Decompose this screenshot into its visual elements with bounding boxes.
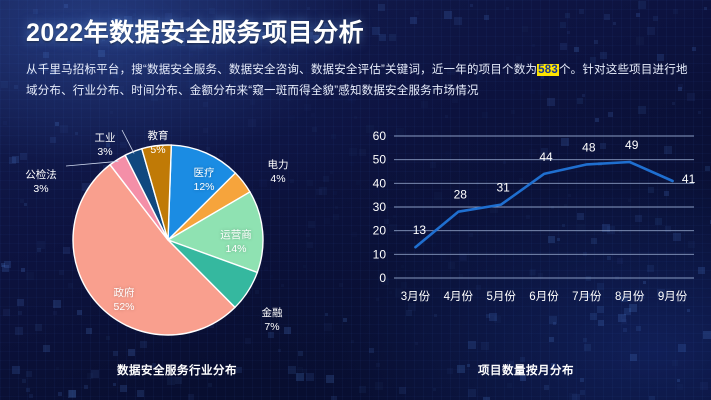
x-tick-label-7月份: 7月份	[572, 290, 602, 303]
y-tick-label-20: 20	[373, 224, 387, 238]
y-tick-label-30: 30	[373, 200, 387, 214]
x-tick-label-6月份: 6月份	[529, 290, 559, 303]
line-series-group	[415, 162, 672, 247]
data-label-6月份: 44	[539, 150, 553, 164]
pie-svg	[8, 118, 346, 358]
line-x-tick-labels-group: 3月份4月份5月份6月份7月份8月份9月份	[401, 290, 688, 303]
line-chart-title: 项目数量按月分布	[350, 362, 702, 378]
data-label-3月份: 13	[413, 223, 427, 237]
line-svg: 0102030405060 3月份4月份5月份6月份7月份8月份9月份 1328…	[350, 118, 702, 358]
industry-pie-chart: 政府52%运营商14%医疗12%金融7%教育5%电力4%工业3%公检法3% 数据…	[8, 118, 346, 400]
data-label-5月份: 31	[496, 181, 510, 195]
y-tick-label-60: 60	[373, 129, 387, 143]
y-tick-label-40: 40	[373, 176, 387, 190]
pie-chart-title: 数据安全服务行业分布	[8, 362, 346, 378]
charts-container: 政府52%运营商14%医疗12%金融7%教育5%电力4%工业3%公检法3% 数据…	[0, 118, 711, 400]
monthly-line-chart: 0102030405060 3月份4月份5月份6月份7月份8月份9月份 1328…	[350, 118, 702, 400]
pie-slices-group	[73, 145, 263, 335]
line-data-labels-group: 13283144484941	[413, 138, 696, 237]
x-tick-label-4月份: 4月份	[444, 290, 474, 303]
slide-root: 2022年数据安全服务项目分析 从千里马招标平台，搜“数据安全服务、数据安全咨询…	[0, 0, 711, 400]
highlighted-project-count: 583	[537, 64, 559, 76]
data-label-8月份: 49	[625, 138, 639, 152]
pie-plot-area: 政府52%运营商14%医疗12%金融7%教育5%电力4%工业3%公检法3%	[8, 118, 346, 358]
y-tick-label-50: 50	[373, 153, 387, 167]
data-label-4月份: 28	[454, 188, 468, 202]
data-label-7月份: 48	[582, 140, 596, 154]
x-tick-label-3月份: 3月份	[401, 290, 431, 303]
y-tick-label-10: 10	[373, 247, 387, 261]
x-tick-label-8月份: 8月份	[615, 290, 645, 303]
summary-text-before: 从千里马招标平台，搜“数据安全服务、数据安全咨询、数据安全评估”关键词，近一年的…	[26, 64, 537, 76]
line-y-tick-labels-group: 0102030405060	[373, 129, 387, 285]
line-series-path[interactable]	[415, 162, 672, 247]
data-label-9月份: 41	[682, 172, 696, 186]
y-tick-label-0: 0	[379, 271, 386, 285]
summary-paragraph: 从千里马招标平台，搜“数据安全服务、数据安全咨询、数据安全评估”关键词，近一年的…	[26, 60, 688, 102]
x-tick-label-5月份: 5月份	[486, 290, 516, 303]
pie-leader-line-工业	[122, 130, 134, 153]
x-tick-label-9月份: 9月份	[658, 290, 688, 303]
page-title: 2022年数据安全服务项目分析	[26, 13, 364, 49]
